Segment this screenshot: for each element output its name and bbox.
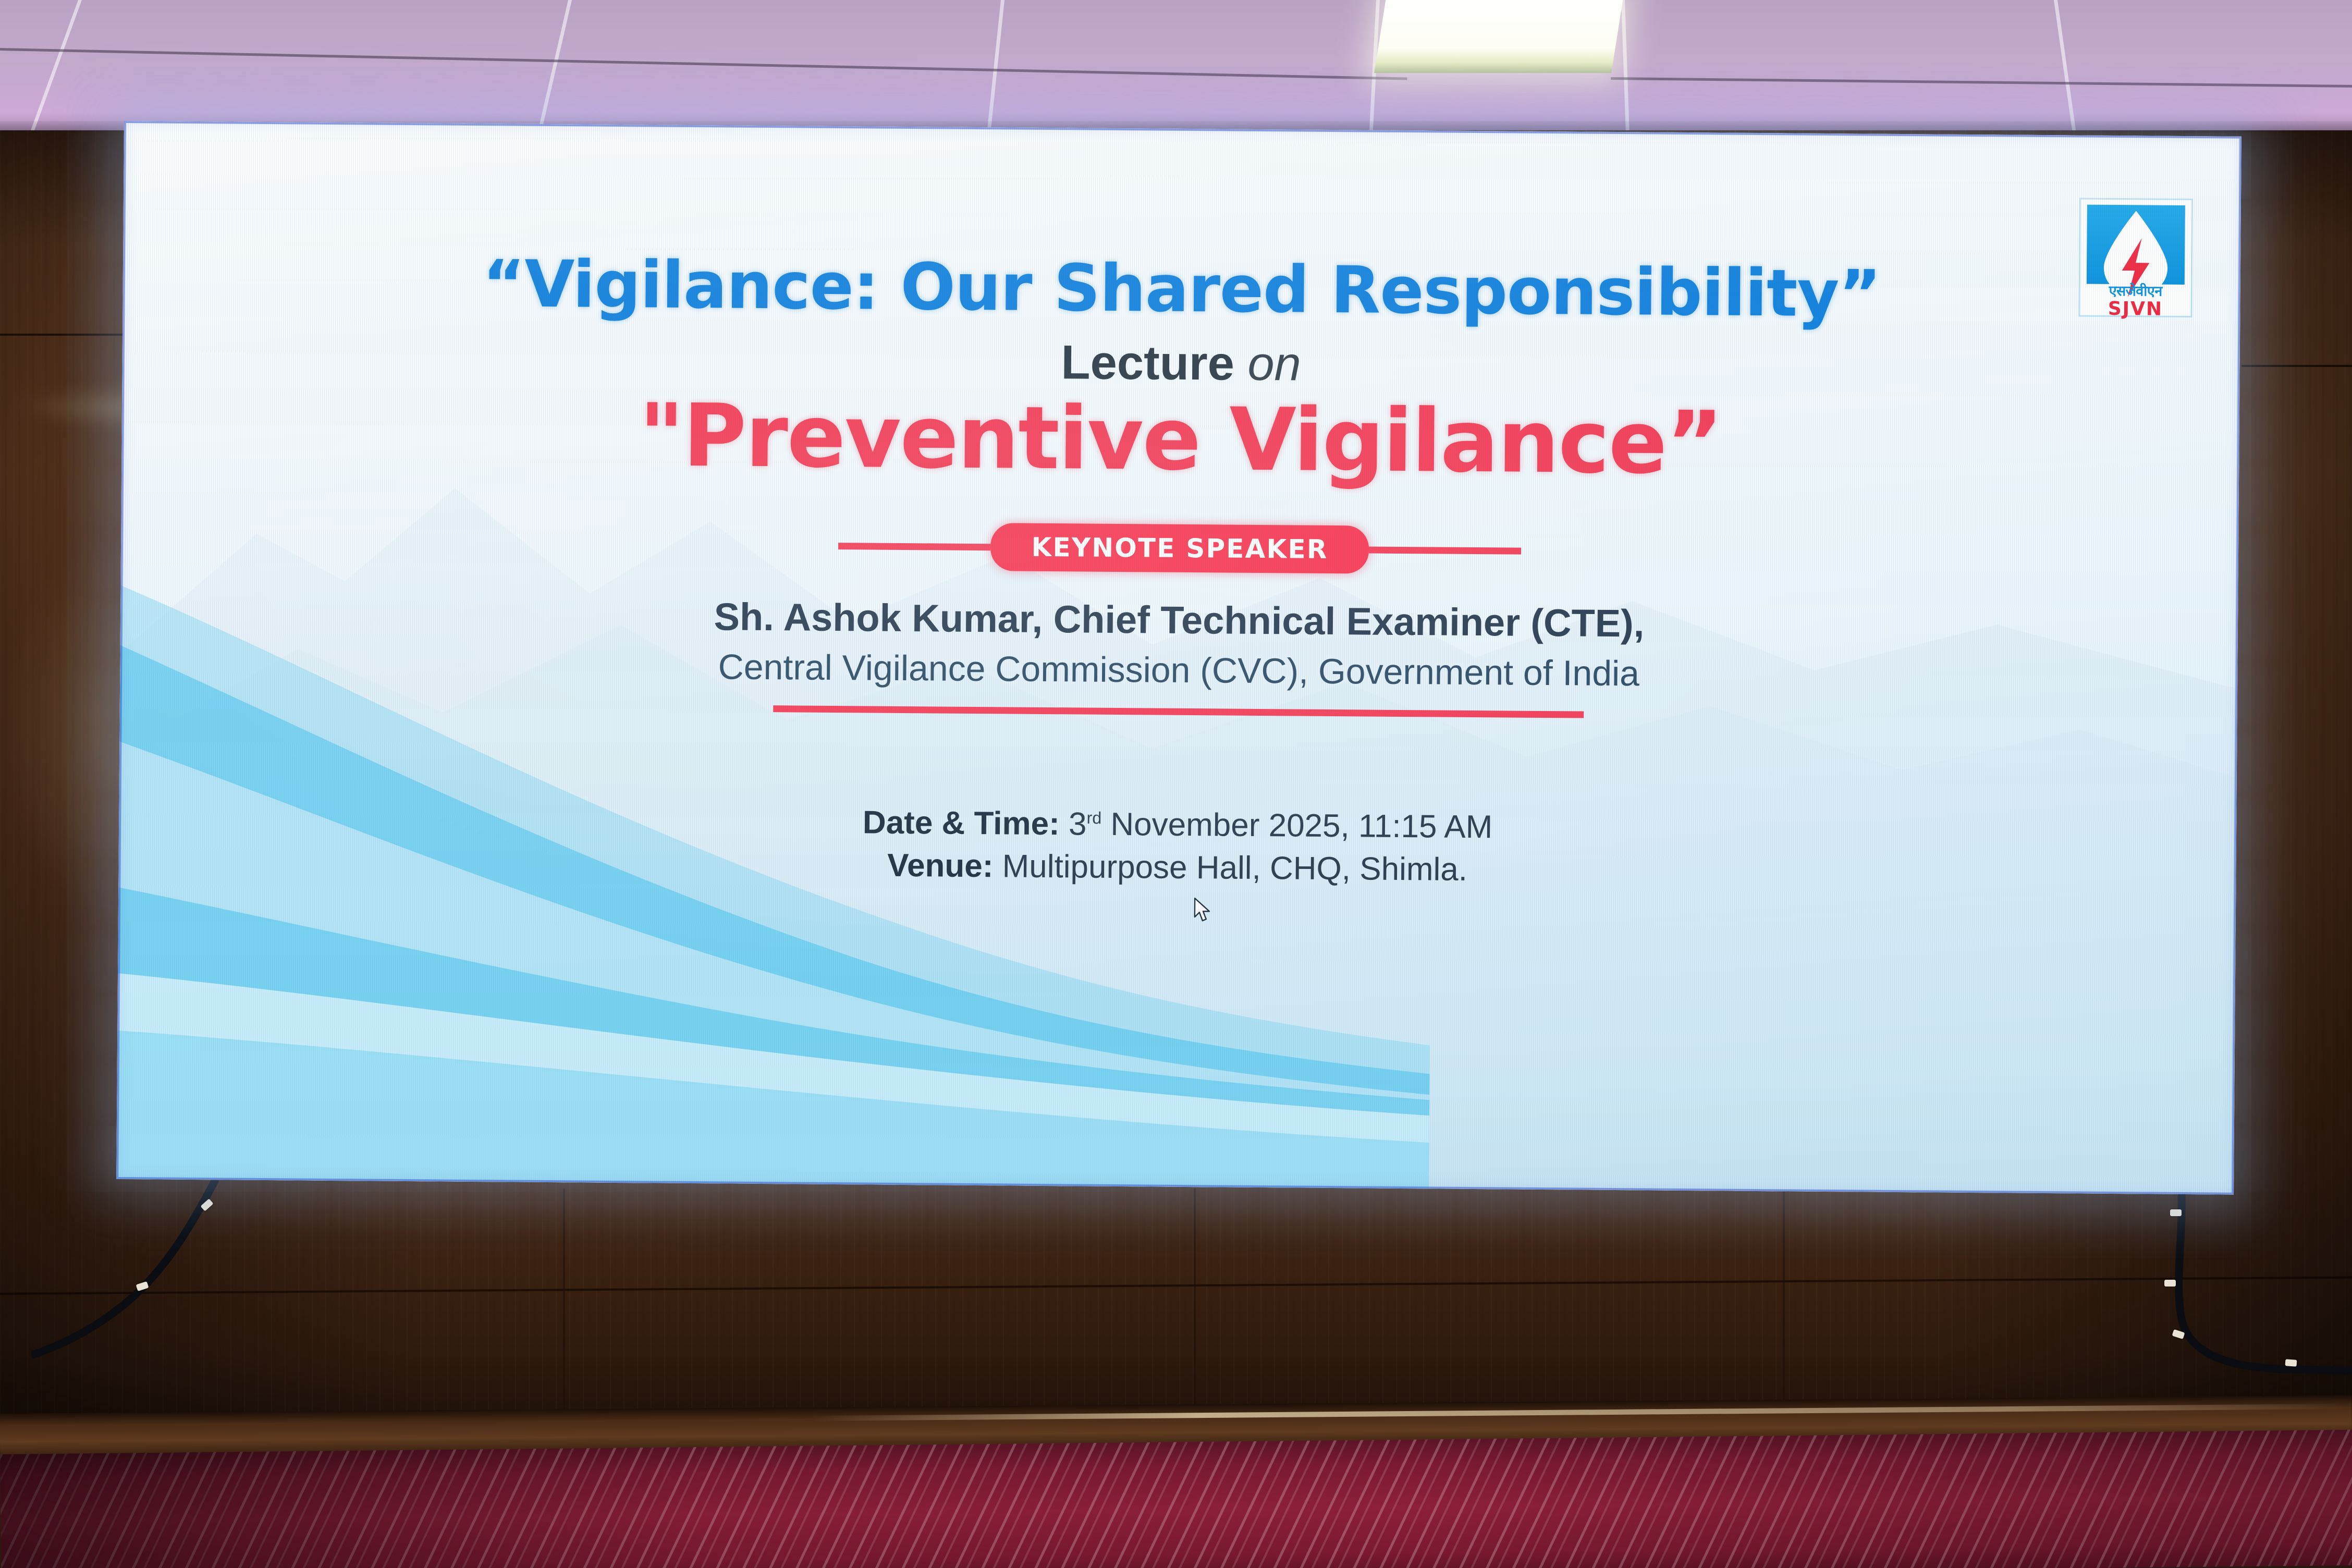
sjvn-hindi-text: एसजेवीएन (2084, 284, 2188, 299)
date-ordinal-suffix: rd (1086, 808, 1101, 827)
venue-label: Venue: (887, 848, 994, 884)
keynote-speaker-row: KEYNOTE SPEAKER (121, 518, 2239, 579)
divider-rule (773, 705, 1584, 718)
cable-clip (2164, 1280, 2176, 1287)
speaker-name: Sh. Ashok Kumar, Chief Technical Examine… (120, 590, 2238, 650)
date-day: 3 (1069, 806, 1087, 842)
sjvn-english-text: SJVN (2083, 300, 2187, 319)
venue-line: Venue: Multipurpose Hall, CHQ, Shimla. (118, 841, 2236, 894)
cable-clip (2170, 1209, 2182, 1216)
mouse-pointer-icon (1193, 897, 1212, 923)
keynote-speaker-badge: KEYNOTE SPEAKER (990, 523, 1369, 573)
keynote-rule-right (1369, 546, 1521, 554)
power-cable-left (31, 1175, 219, 1420)
speaker-organization: Central Vigilance Commission (CVC), Gove… (120, 642, 2237, 699)
slide-main-title: “Vigilance: Our Shared Responsibility” (123, 244, 2240, 335)
venue-value: Multipurpose Hall, CHQ, Shimla. (993, 848, 1467, 888)
date-rest: November 2025, 11:15 AM (1101, 806, 1493, 845)
led-presentation-screen[interactable]: “Vigilance: Our Shared Responsibility” L… (116, 121, 2241, 1195)
date-time-label: Date & Time: (863, 804, 1060, 842)
conference-room-scene: “Vigilance: Our Shared Responsibility” L… (0, 0, 2352, 1568)
cable-clip (2285, 1359, 2297, 1367)
keynote-rule-left (838, 543, 990, 550)
slide-subtitle: "Preventive Vigilance” (121, 382, 2239, 498)
carpet-shading (0, 1430, 2352, 1568)
lecture-word: Lecture (1061, 336, 1234, 390)
ceiling-light-panel (1374, 0, 1624, 73)
presentation-slide: “Vigilance: Our Shared Responsibility” L… (116, 121, 2241, 1195)
sjvn-logo: एसजेवीएन SJVN (2078, 198, 2193, 318)
lecture-on-word: on (1247, 337, 1301, 391)
